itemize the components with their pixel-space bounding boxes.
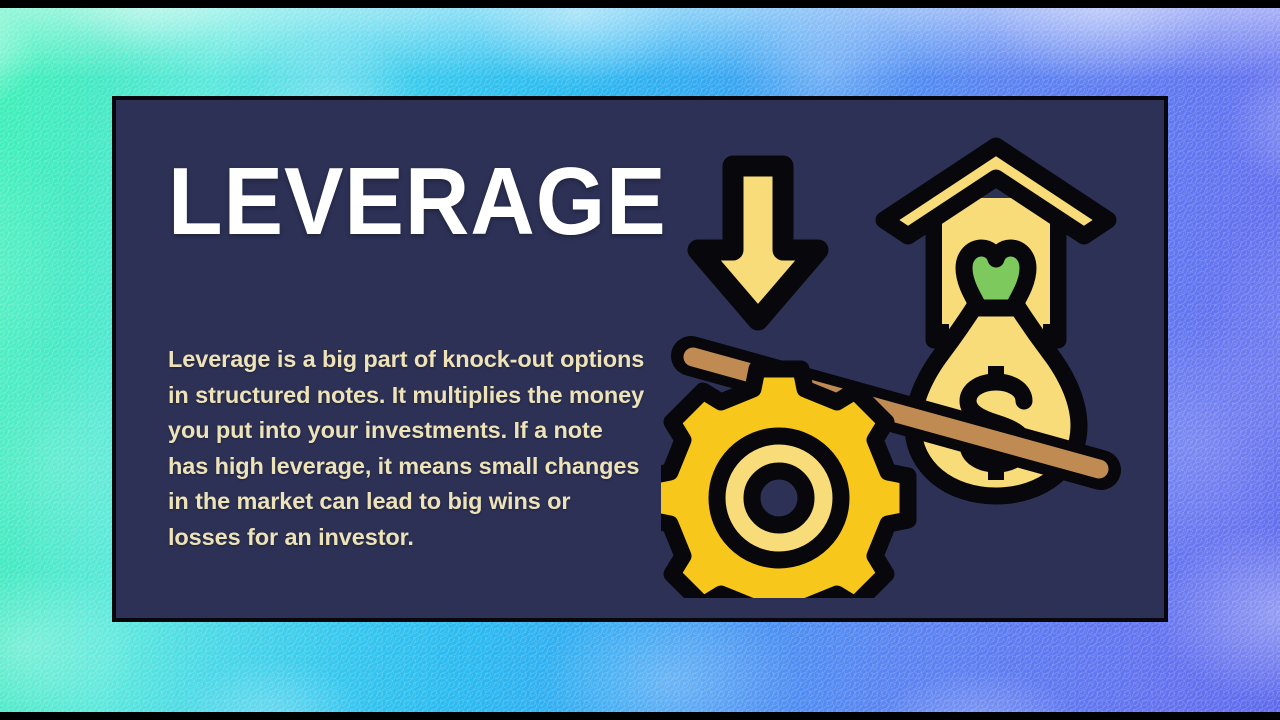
- gear-fulcrum-icon: [661, 369, 908, 598]
- letterbox-bar-top: [0, 0, 1280, 8]
- slide-canvas: LEVERAGE Leverage is a big part of knock…: [0, 0, 1280, 720]
- content-card: LEVERAGE Leverage is a big part of knock…: [112, 96, 1168, 622]
- leverage-lever-illustration: [661, 128, 1131, 598]
- body-paragraph: Leverage is a big part of knock-out opti…: [168, 342, 646, 555]
- page-title: LEVERAGE: [168, 154, 667, 250]
- down-arrow-icon: [698, 166, 818, 320]
- letterbox-bar-bottom: [0, 712, 1280, 720]
